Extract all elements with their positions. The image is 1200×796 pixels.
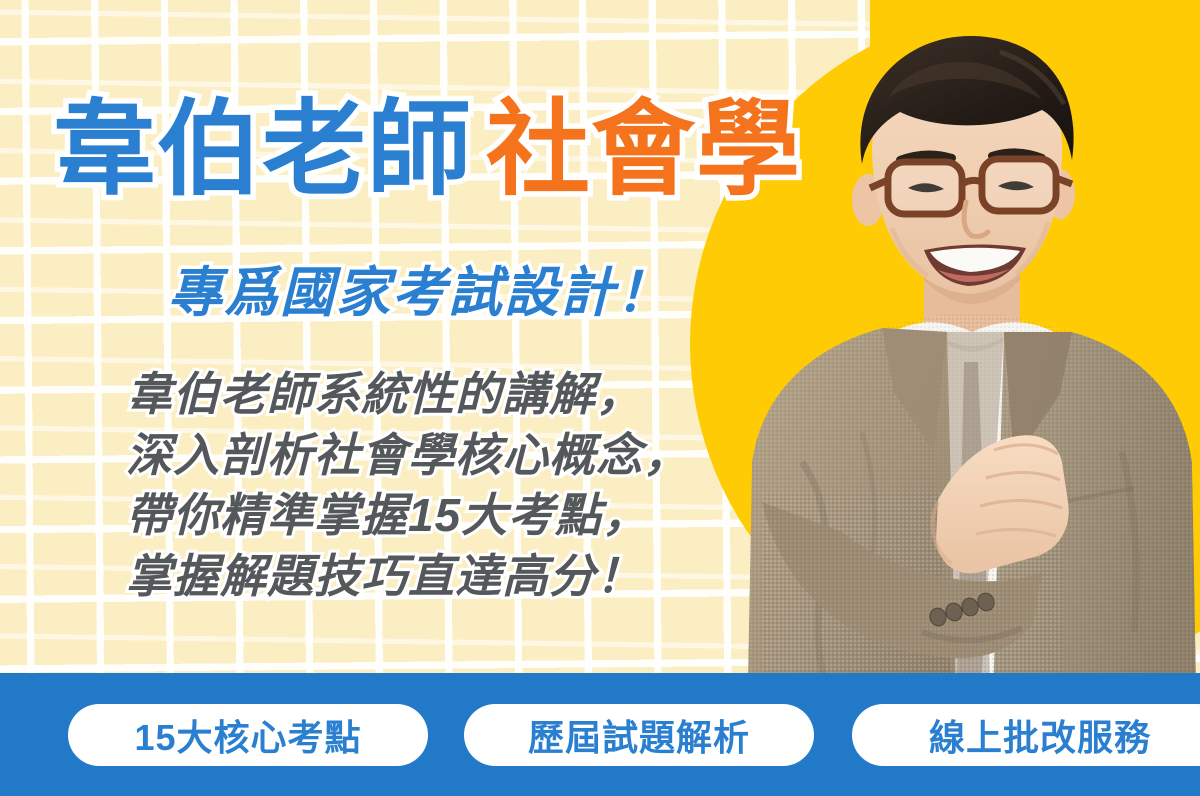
headline-subject: 社會學 xyxy=(486,96,801,205)
teacher-photo xyxy=(742,32,1200,732)
description-line: 韋伯老師系統性的講解， xyxy=(126,364,690,425)
headline-teacher-name: 韋伯老師 xyxy=(52,96,472,205)
feature-pill-online-grading[interactable]: 線上批改服務 xyxy=(852,704,1200,766)
head xyxy=(852,36,1075,294)
description-line: 深入剖析社會學核心概念， xyxy=(126,425,690,486)
feature-pill-past-exams[interactable]: 歷屆試題解析 xyxy=(464,704,814,766)
description-line: 掌握解題技巧直達高分！ xyxy=(126,546,690,607)
description-line: 帶你精準掌握15大考點， xyxy=(126,485,690,546)
teacher-portrait-svg xyxy=(742,32,1200,732)
promo-banner: 韋伯老師 社會學 專爲國家考試設計！ 韋伯老師系統性的講解， 深入剖析社會學核心… xyxy=(0,0,1200,796)
feature-pill-core-topics[interactable]: 15大核心考點 xyxy=(68,704,428,766)
description-block: 韋伯老師系統性的講解， 深入剖析社會學核心概念， 帶你精準掌握15大考點， 掌握… xyxy=(126,364,690,607)
subheadline: 專爲國家考試設計！ xyxy=(168,248,672,327)
feature-bar: 15大核心考點 歷屆試題解析 線上批改服務 xyxy=(0,673,1200,796)
page-title: 韋伯老師 社會學 xyxy=(52,96,801,205)
